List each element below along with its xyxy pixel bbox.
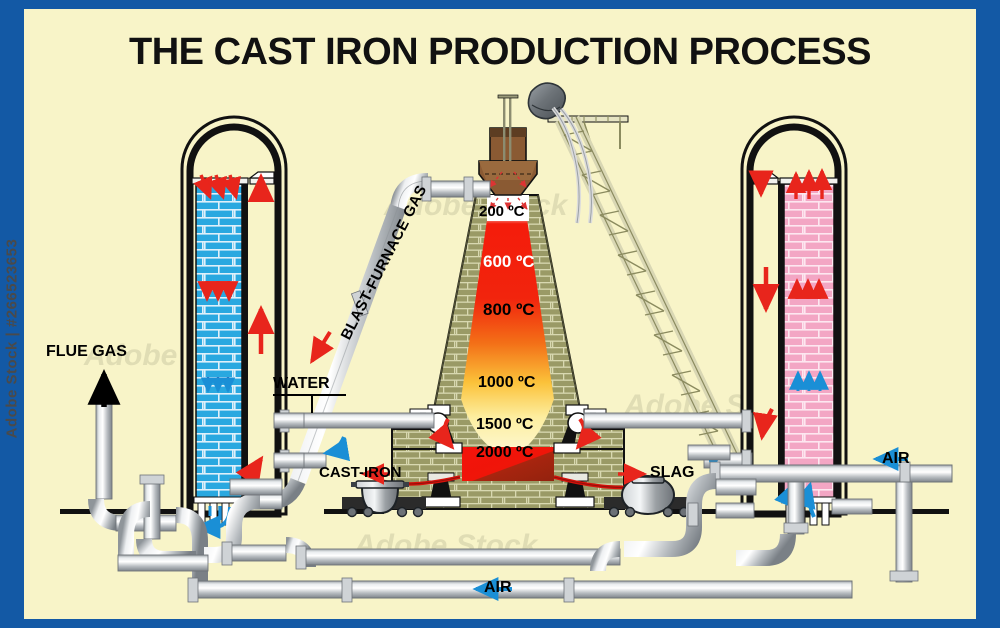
diagram-canvas: THE CAST IRON PRODUCTION PROCESS Adobe S… xyxy=(24,9,976,619)
stock-credit: Adobe Stock | #266523653 xyxy=(4,139,21,539)
temperature-label-2000: 2000 ºC xyxy=(476,444,533,462)
blast-furnace xyxy=(382,83,740,509)
label-cast-iron: CAST-IRON xyxy=(319,464,402,481)
label-flue-gas: FLUE GAS xyxy=(46,343,127,361)
stove-checker-bricks-left xyxy=(196,184,242,499)
cowper-stove-left xyxy=(182,117,286,527)
cold-blast-main xyxy=(300,549,620,565)
label-slag: SLAG xyxy=(650,464,694,482)
temperature-label-1000: 1000 ºC xyxy=(478,374,535,392)
cowper-stove-right xyxy=(742,117,846,525)
stove-checker-bricks-right xyxy=(784,184,834,499)
water-flow-arrow xyxy=(326,437,344,453)
temperature-label-600: 600 ºC xyxy=(483,252,535,272)
temperature-label-200: 200 ºC xyxy=(479,203,525,220)
temperature-label-800: 800 ºC xyxy=(483,300,535,320)
diagram-stage: THE CAST IRON PRODUCTION PROCESS Adobe S… xyxy=(0,0,1000,628)
label-water: WATER xyxy=(273,375,330,393)
temperature-label-1500: 1500 ºC xyxy=(476,416,533,434)
label-air-right: AIR xyxy=(882,450,910,468)
main-air-main xyxy=(192,581,852,598)
label-air-bottom: AIR xyxy=(484,579,512,597)
skip-bucket xyxy=(528,83,565,119)
